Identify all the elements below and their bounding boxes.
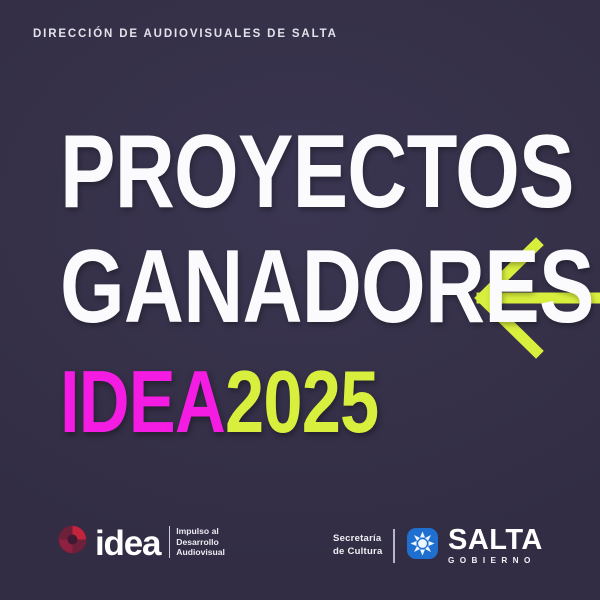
poster-kicker: DIRECCIÓN DE AUDIOVISUALES DE SALTA — [33, 28, 338, 40]
idea-wordmark: idea — [95, 526, 160, 561]
headline-line-2: GANADORES — [60, 237, 396, 339]
secretaria-line-2: de Cultura — [333, 546, 382, 559]
secretaria-line-1: Secretaría — [333, 533, 382, 546]
idea-tagline: Impulso al Desarrollo Audiovisual — [169, 526, 225, 557]
government-lockup: Secretaría de Cultura — [333, 526, 543, 565]
idea-mark-icon — [57, 524, 88, 560]
salta-subtitle: GOBIERNO — [448, 557, 543, 565]
salta-sun-emblem-icon — [406, 527, 439, 565]
footer-divider — [393, 529, 395, 563]
headline-line-1: PROYECTOS — [60, 122, 396, 224]
idea-logo: idea Impulso al Desarrollo Audiovisual — [57, 524, 225, 560]
idea-tagline-line-1: Impulso al — [176, 526, 225, 536]
headline-brand: IDEA — [60, 352, 225, 451]
salta-gobierno-logo: SALTA GOBIERNO — [406, 526, 543, 565]
headline-year: 2025 — [225, 352, 378, 451]
idea-tagline-line-3: Audiovisual — [176, 547, 225, 557]
salta-text-lockup: SALTA GOBIERNO — [448, 526, 543, 565]
idea-tagline-line-2: Desarrollo — [176, 537, 225, 547]
salta-name: SALTA — [448, 526, 543, 555]
poster-footer: idea Impulso al Desarrollo Audiovisual S… — [0, 518, 600, 578]
poster-headline: PROYECTOS GANADORES IDEA2025 — [60, 122, 480, 445]
secretaria-de-cultura-label: Secretaría de Cultura — [333, 533, 382, 559]
poster-canvas: DIRECCIÓN DE AUDIOVISUALES DE SALTA PROY… — [0, 0, 600, 600]
headline-line-3: IDEA2025 — [60, 359, 396, 445]
